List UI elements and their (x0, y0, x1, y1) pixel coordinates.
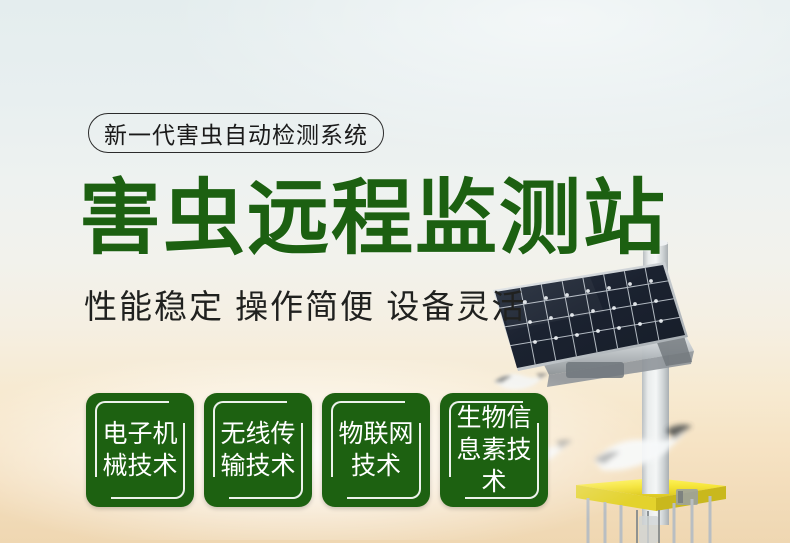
feature-tag-electromechanical[interactable]: 电子机械技术 (86, 393, 194, 507)
feature-tag-label: 电子机械技术 (96, 418, 184, 482)
page-title: 害虫远程监测站 (79, 176, 667, 262)
feature-tag-label: 生物信息素技术 (450, 402, 538, 498)
feature-tag-label: 物联网技术 (332, 418, 420, 482)
feature-tag-list: 电子机械技术 无线传输技术 物联网技术 生物信息素技术 (86, 393, 548, 507)
product-banner: 新一代害虫自动检测系统 害虫远程监测站 性能稳定 操作简便 设备灵活 电子机械技… (0, 0, 790, 543)
feature-tag-label: 无线传输技术 (214, 418, 302, 482)
tagline-badge: 新一代害虫自动检测系统 (88, 113, 384, 153)
banner-text-block: 新一代害虫自动检测系统 害虫远程监测站 性能稳定 操作简便 设备灵活 电子机械技… (0, 0, 790, 543)
feature-tag-wireless-transmission[interactable]: 无线传输技术 (204, 393, 312, 507)
page-subtitle: 性能稳定 操作简便 设备灵活 (84, 286, 526, 328)
feature-tag-pheromone[interactable]: 生物信息素技术 (440, 393, 548, 507)
feature-tag-iot[interactable]: 物联网技术 (322, 393, 430, 507)
